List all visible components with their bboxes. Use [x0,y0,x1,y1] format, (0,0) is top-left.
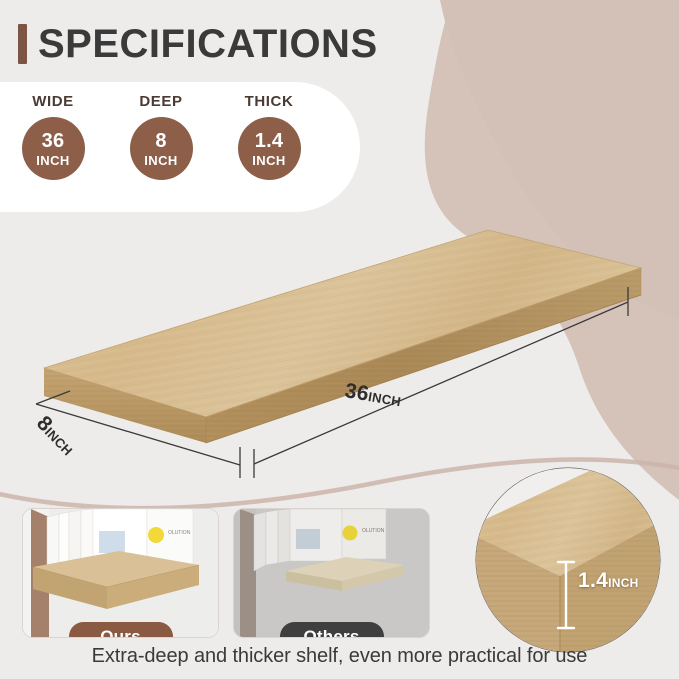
comparison-panel-others[interactable]: OLUTION Others [233,508,430,638]
comparison-panel-ours[interactable]: OLUTION Ours [22,508,219,638]
others-shelf-scene: OLUTION [234,509,429,637]
spec-bubble-deep: 8 INCH [130,117,193,180]
thickness-value: 1.4 [578,569,608,592]
header: SPECIFICATIONS [0,0,679,88]
badge-others: Others [280,622,384,638]
spec-items-row: WIDE 36 INCH DEEP 8 INCH THICK 1.4 INCH [8,82,314,212]
spec-item-deep: DEEP 8 INCH [116,82,206,180]
thickness-callout-label: 1.4INCH [578,569,639,593]
thickness-unit: INCH [608,576,639,590]
depth-dimension-unit: INCH [42,424,76,458]
svg-text:OLUTION: OLUTION [168,530,191,536]
width-dimension-label: 36INCH [343,379,403,412]
ours-shelf-scene: OLUTION [23,509,218,637]
width-dimension-line [254,287,628,478]
spec-label-wide: WIDE [32,93,74,110]
title-accent-bar [18,24,27,64]
shelf-side-face [206,268,641,443]
shelf-top-face [44,230,641,417]
badge-ours: Ours [69,622,173,638]
spec-bubble-thick: 1.4 INCH [238,117,301,180]
page-title: SPECIFICATIONS [38,20,378,68]
spec-item-wide: WIDE 36 INCH [8,82,98,180]
spec-item-thick: THICK 1.4 INCH [224,82,314,180]
depth-dimension-label: 8INCH [31,412,80,461]
spec-unit-wide: INCH [36,154,69,167]
spec-unit-thick: INCH [252,154,285,167]
spec-value-deep: 8 [155,131,166,151]
spec-unit-deep: INCH [144,154,177,167]
spec-label-thick: THICK [245,93,294,110]
spec-value-thick: 1.4 [255,131,283,151]
width-dimension-unit: INCH [367,389,402,409]
spec-label-deep: DEEP [139,93,182,110]
specifications-infographic: SPECIFICATIONS WIDE 36 INCH DEEP 8 INCH … [0,0,679,679]
svg-text:OLUTION: OLUTION [362,528,385,534]
spec-bubble-wide: 36 INCH [22,117,85,180]
specifications-card: WIDE 36 INCH DEEP 8 INCH THICK 1.4 INCH [0,82,360,212]
spec-value-wide: 36 [42,131,65,151]
caption-text: Extra-deep and thicker shelf, even more … [0,645,679,668]
